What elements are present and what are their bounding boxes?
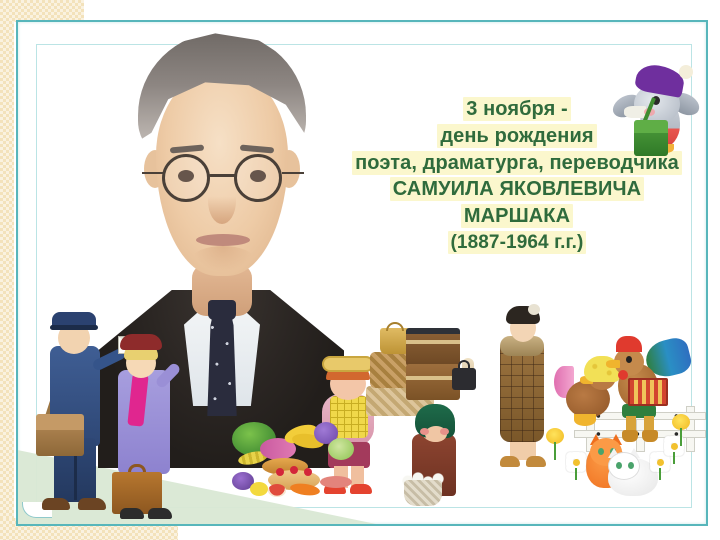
accordion-icon bbox=[628, 378, 668, 406]
bird-beak bbox=[624, 106, 646, 118]
postman-bird-icon bbox=[606, 62, 710, 172]
old-woman-figure bbox=[398, 398, 474, 510]
lemon-icon bbox=[250, 482, 268, 496]
white-kitten-eye-right bbox=[628, 462, 634, 469]
rooster-wattle bbox=[618, 370, 628, 380]
old-woman-cheek-left bbox=[420, 428, 429, 435]
yellow-flower-icon-1 bbox=[672, 414, 690, 444]
rooster-eye bbox=[626, 356, 632, 363]
food-pile bbox=[232, 418, 362, 500]
hen-feet bbox=[574, 414, 596, 426]
daisy-icon-1 bbox=[566, 452, 586, 478]
rooster-comb bbox=[616, 336, 642, 352]
fish-icon bbox=[320, 476, 352, 488]
title-line-4: САМУИЛА ЯКОВЛЕВИЧА bbox=[330, 176, 704, 203]
title-line-6-years: (1887-1964 г.г.) bbox=[330, 230, 704, 255]
lady-beret bbox=[120, 334, 162, 350]
lady-shoe-left bbox=[120, 508, 144, 519]
suitcase-belt-1 bbox=[406, 340, 460, 344]
cabbage-icon bbox=[328, 438, 354, 460]
daisy-center bbox=[657, 459, 664, 466]
cherry-icon-1 bbox=[276, 468, 284, 476]
bird-mail-bag-flap bbox=[634, 120, 668, 133]
postman-cap-brim bbox=[50, 325, 98, 330]
white-kitten-eye-left bbox=[616, 462, 622, 469]
mushroom-icon bbox=[268, 484, 286, 497]
daisy-stem bbox=[659, 468, 661, 480]
daisy-stem bbox=[673, 452, 675, 464]
old-woman-cheek-right bbox=[440, 428, 449, 435]
cherry-icon-3 bbox=[304, 468, 312, 476]
yellow-flower-icon-2 bbox=[546, 428, 564, 458]
daisy-center bbox=[671, 443, 678, 450]
white-kitten-head bbox=[608, 452, 640, 480]
fur-lady-shoe-left bbox=[500, 456, 520, 467]
bird-hat-pompom bbox=[679, 65, 693, 79]
daisy-center bbox=[573, 459, 580, 466]
postman-shoe-left bbox=[42, 498, 70, 510]
postman-shoe-right bbox=[78, 498, 106, 510]
orange-kitten-eye-left bbox=[598, 448, 604, 455]
fur-lady-shoe-right bbox=[526, 456, 546, 467]
bucket-handle bbox=[386, 322, 404, 331]
yellow-flower-stem bbox=[554, 442, 556, 460]
flower-basket bbox=[404, 480, 442, 506]
daisy-stem bbox=[575, 468, 577, 480]
lady-with-suitcase-figure bbox=[104, 330, 200, 520]
fur-coat bbox=[500, 342, 544, 442]
rooster-beak bbox=[606, 360, 620, 368]
lady-shoe-right bbox=[148, 508, 172, 519]
postman-satchel-flap bbox=[36, 414, 84, 430]
yellow-flower-stem bbox=[680, 428, 682, 446]
cherry-icon-2 bbox=[290, 466, 298, 474]
fur-lady-hat-trim bbox=[528, 304, 540, 315]
title-line-5: МАРШАКА bbox=[330, 203, 704, 230]
handbag-icon bbox=[452, 368, 476, 390]
suitcase-large-1 bbox=[406, 328, 460, 366]
presentation-slide: 3 ноября - день рождения поэта, драматур… bbox=[0, 0, 720, 540]
